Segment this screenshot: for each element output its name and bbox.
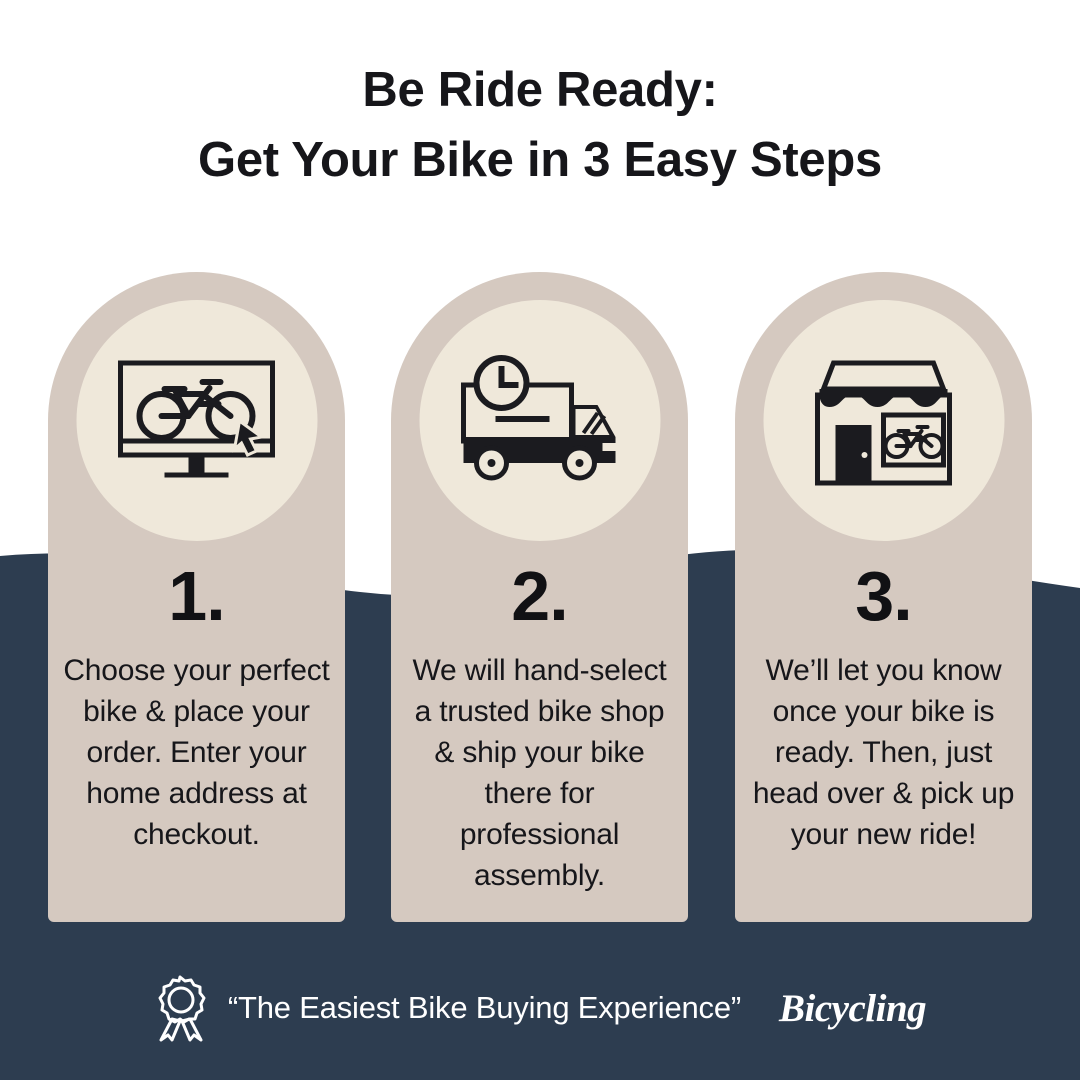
step-1-body: Choose your perfect bike & place your or…: [62, 650, 331, 855]
footer-bar: “The Easiest Bike Buying Experience” Bic…: [0, 972, 1080, 1044]
step-card-3: 3. We’ll let you know once your bike is …: [735, 272, 1032, 922]
footer-quote: “The Easiest Bike Buying Experience”: [228, 990, 741, 1026]
title-line-2: Get Your Bike in 3 Easy Steps: [0, 125, 1080, 195]
delivery-truck-clock-icon: [458, 353, 622, 489]
infographic-poster: Be Ride Ready: Get Your Bike in 3 Easy S…: [0, 0, 1080, 1080]
step-2-icon-circle: [419, 300, 660, 541]
step-3-body: We’ll let you know once your bike is rea…: [749, 650, 1018, 855]
step-1-number: 1.: [48, 560, 345, 632]
step-2-number: 2.: [391, 560, 688, 632]
title-line-1: Be Ride Ready:: [0, 55, 1080, 125]
step-2-body: We will hand-select a trusted bike shop …: [405, 650, 674, 896]
step-3-icon-circle: [763, 300, 1004, 541]
step-1-icon-circle: [76, 300, 317, 541]
step-3-number: 3.: [735, 560, 1032, 632]
step-card-2: 2. We will hand-select a trusted bike sh…: [391, 272, 688, 922]
page-title: Be Ride Ready: Get Your Bike in 3 Easy S…: [0, 55, 1080, 195]
step-card-1: 1. Choose your perfect bike & place your…: [48, 272, 345, 922]
bike-shop-storefront-icon: [804, 353, 964, 489]
bicycling-logo: Bicycling: [779, 986, 926, 1031]
monitor-bike-cursor-icon: [117, 359, 277, 483]
award-ribbon-icon: [154, 974, 206, 1042]
